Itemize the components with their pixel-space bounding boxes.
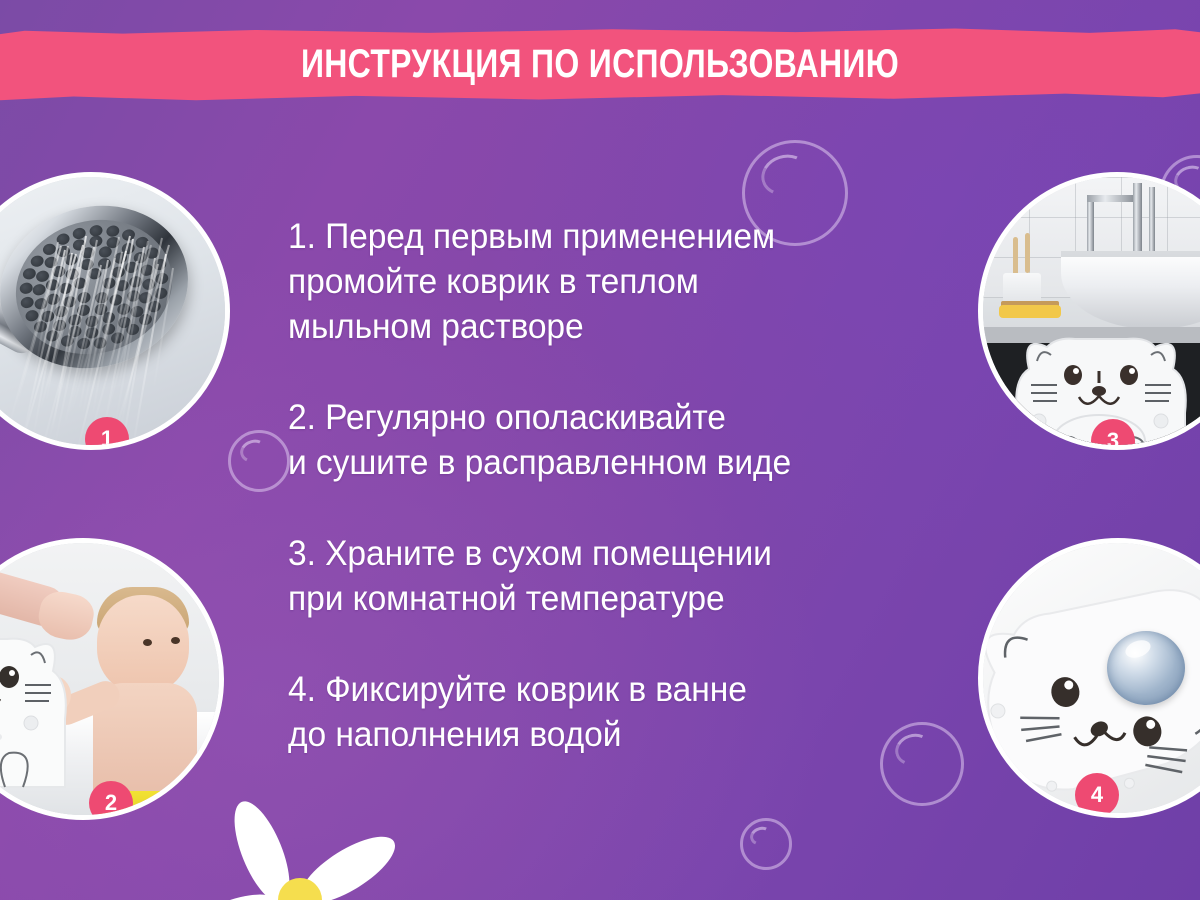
bubble-decoration-icon — [228, 430, 290, 492]
bathroom-illustration — [983, 177, 1200, 445]
instruction-steps-list: 1. Перед первым применением промойте ков… — [288, 214, 918, 757]
step-line: 3. Храните в сухом помещении — [288, 531, 893, 576]
instruction-step: 1. Перед первым применением промойте ков… — [288, 214, 918, 349]
step-line: 1. Перед первым применением — [288, 214, 893, 259]
page-title: ИНСТРУКЦИЯ ПО ИСПОЛЬЗОВАНИЮ — [110, 27, 1089, 101]
step-line: до наполнения водой — [288, 712, 893, 757]
step-line: и сушите в расправленном виде — [288, 440, 893, 485]
instruction-poster: ИНСТРУКЦИЯ ПО ИСПОЛЬЗОВАНИЮ 1 — [0, 0, 1200, 900]
step-line: при комнатной температуре — [288, 576, 893, 621]
instruction-step: 2. Регулярно ополаскивайте и сушите в ра… — [288, 395, 918, 485]
baby-illustration — [0, 543, 219, 815]
photo-shower-head: 1 — [0, 172, 230, 450]
photo-baby-with-mat: 2 — [0, 538, 224, 820]
instruction-step: 3. Храните в сухом помещении при комнатн… — [288, 531, 918, 621]
step-line: 4. Фиксируйте коврик в ванне — [288, 667, 893, 712]
photo-mat-in-bathroom: 3 — [978, 172, 1200, 450]
step-badge-2: 2 — [89, 781, 133, 820]
step-line: промойте коврик в теплом — [288, 259, 893, 304]
shower-head-illustration — [0, 177, 225, 445]
instruction-step: 4. Фиксируйте коврик в ванне до наполнен… — [288, 667, 918, 757]
bubble-decoration-icon — [740, 818, 792, 870]
step-line: 2. Регулярно ополаскивайте — [288, 395, 893, 440]
daisy-flower-icon — [170, 800, 430, 900]
step-line: мыльном растворе — [288, 304, 893, 349]
title-banner: ИНСТРУКЦИЯ ПО ИСПОЛЬЗОВАНИЮ — [0, 27, 1200, 101]
photo-mat-suction: 4 — [978, 538, 1200, 818]
step-badge-4: 4 — [1075, 773, 1119, 817]
cat-mat-icon — [0, 615, 77, 795]
